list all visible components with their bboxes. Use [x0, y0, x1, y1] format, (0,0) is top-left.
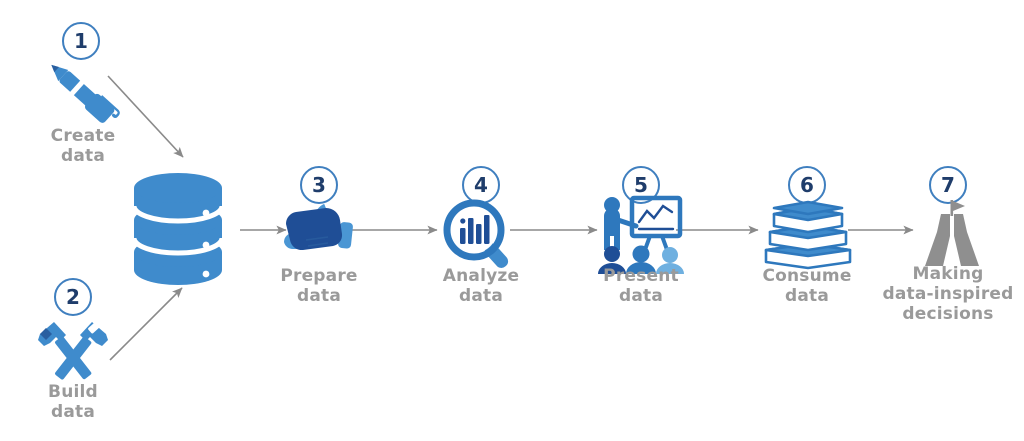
step-label-prepare-data: Prepare data	[256, 266, 382, 306]
presentation-audience-icon	[592, 192, 690, 274]
step-number-badge-2: 2	[54, 278, 92, 316]
step-prepare-data[interactable]: 3 Prepare data	[256, 166, 382, 311]
step-number-6: 6	[800, 175, 814, 195]
forked-road-icon	[919, 198, 985, 270]
step-number-2: 2	[66, 287, 80, 307]
step-label-present-data: Present data	[578, 266, 704, 306]
step-consume-data[interactable]: 6 Consume data	[744, 166, 870, 311]
step-number-badge-1: 1	[62, 22, 100, 60]
step-label-build-data: Build data	[8, 382, 138, 422]
step-number-4: 4	[474, 175, 488, 195]
pen-icon	[36, 58, 130, 130]
hammer-tools-icon	[30, 316, 116, 386]
database-store[interactable]	[118, 168, 238, 290]
step-present-data[interactable]: 5	[578, 166, 704, 311]
diagram-canvas: 1 Create data	[0, 0, 1024, 441]
step-label-making-decisions: Making data-inspired decisions	[872, 264, 1024, 324]
database-icon	[118, 168, 238, 290]
hand-wrench-icon	[272, 196, 368, 268]
step-making-decisions[interactable]: 7 Making data-inspired decision	[872, 166, 1024, 331]
step-label-analyze-data: Analyze data	[418, 266, 544, 306]
step-analyze-data[interactable]: 4 Analyze data	[418, 166, 544, 311]
step-number-1: 1	[74, 31, 88, 51]
step-create-data[interactable]: 1 Create data	[18, 22, 148, 172]
step-label-create-data: Create data	[18, 126, 148, 166]
step-number-3: 3	[312, 175, 326, 195]
magnifier-bar-chart-icon	[440, 196, 524, 272]
step-number-7: 7	[941, 175, 955, 195]
step-label-consume-data: Consume data	[744, 266, 870, 306]
step-build-data[interactable]: 2 Build data	[8, 278, 138, 428]
book-stack-icon	[760, 194, 856, 272]
